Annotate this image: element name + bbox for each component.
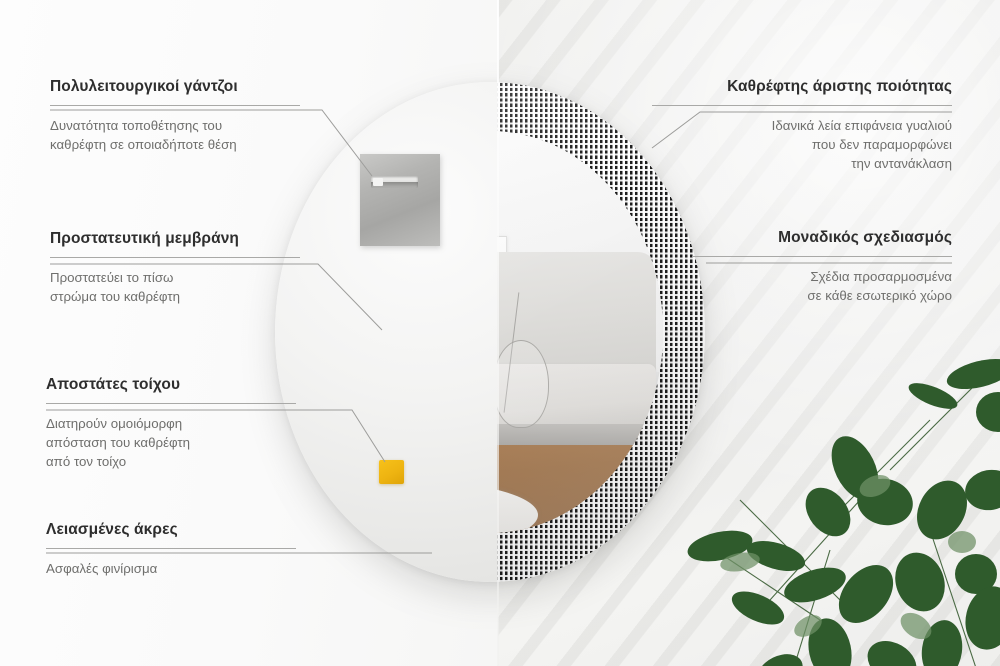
wall-spacer	[379, 460, 404, 484]
line: Σχέδια προσαρμοσμένα	[810, 269, 952, 284]
callout-spacers-title: Αποστάτες τοίχου	[46, 376, 296, 394]
callout-quality-mirror-title: Καθρέφτης άριστης ποιότητας	[652, 78, 952, 96]
plant-leaves-icon	[680, 350, 1000, 666]
callout-membrane-body: Προστατεύει το πίσω στρώμα του καθρέφτη	[50, 268, 300, 306]
line: στρώμα του καθρέφτη	[50, 289, 180, 304]
callout-edges: Λειασμένες άκρες Ασφαλές φινίρισμα	[46, 521, 296, 578]
callout-unique-design: Μοναδικός σχεδιασμός Σχέδια προσαρμοσμέν…	[692, 229, 952, 305]
callout-edges-body: Ασφαλές φινίρισμα	[46, 559, 296, 578]
callout-membrane-rule	[50, 257, 300, 258]
line: Ιδανικά λεία επιφάνεια γυαλιού	[772, 118, 952, 133]
infographic-canvas: Πολυλειτουργικοί γάντζοι Δυνατότητα τοπο…	[0, 0, 1000, 666]
callout-hooks: Πολυλειτουργικοί γάντζοι Δυνατότητα τοπο…	[50, 78, 300, 154]
line: καθρέφτη σε οποιαδήποτε θέση	[50, 137, 237, 152]
callout-quality-mirror-rule	[652, 105, 952, 106]
line: Δυνατότητα τοποθέτησης του	[50, 118, 222, 133]
line: από τον τοίχο	[46, 454, 126, 469]
reflected-lamp-shade	[493, 340, 548, 428]
callout-hooks-title: Πολυλειτουργικοί γάντζοι	[50, 78, 300, 96]
panel-divider	[497, 0, 499, 666]
callout-spacers-rule	[46, 403, 296, 404]
line: Προστατεύει το πίσω	[50, 270, 173, 285]
line: σε κάθε εσωτερικό χώρο	[807, 288, 952, 303]
line: απόσταση του καθρέφτη	[46, 435, 190, 450]
callout-membrane: Προστατευτική μεμβράνη Προστατεύει το πί…	[50, 230, 300, 306]
callout-spacers: Αποστάτες τοίχου Διατηρούν ομοιόμορφη απ…	[46, 376, 296, 471]
callout-quality-mirror: Καθρέφτης άριστης ποιότητας Ιδανικά λεία…	[652, 78, 952, 173]
bracket-hole	[373, 178, 383, 186]
callout-hooks-rule	[50, 105, 300, 106]
line: Διατηρούν ομοιόμορφη	[46, 416, 182, 431]
line: Ασφαλές φινίρισμα	[46, 561, 157, 576]
callout-edges-title: Λειασμένες άκρες	[46, 521, 296, 539]
mirror-disc	[275, 82, 705, 582]
mirror-product	[275, 82, 705, 582]
callout-unique-design-body: Σχέδια προσαρμοσμένα σε κάθε εσωτερικό χ…	[692, 267, 952, 305]
callout-hooks-body: Δυνατότητα τοποθέτησης του καθρέφτη σε ο…	[50, 116, 300, 154]
line: την αντανάκλαση	[851, 156, 952, 171]
callout-unique-design-rule	[692, 256, 952, 257]
callout-edges-rule	[46, 548, 296, 549]
callout-spacers-body: Διατηρούν ομοιόμορφη απόσταση του καθρέφ…	[46, 414, 296, 471]
line: που δεν παραμορφώνει	[812, 137, 952, 152]
foliage-decoration	[680, 350, 1000, 666]
callout-membrane-title: Προστατευτική μεμβράνη	[50, 230, 300, 248]
callout-unique-design-title: Μοναδικός σχεδιασμός	[692, 229, 952, 247]
callout-quality-mirror-body: Ιδανικά λεία επιφάνεια γυαλιού που δεν π…	[652, 116, 952, 173]
hanging-bracket	[360, 154, 440, 246]
